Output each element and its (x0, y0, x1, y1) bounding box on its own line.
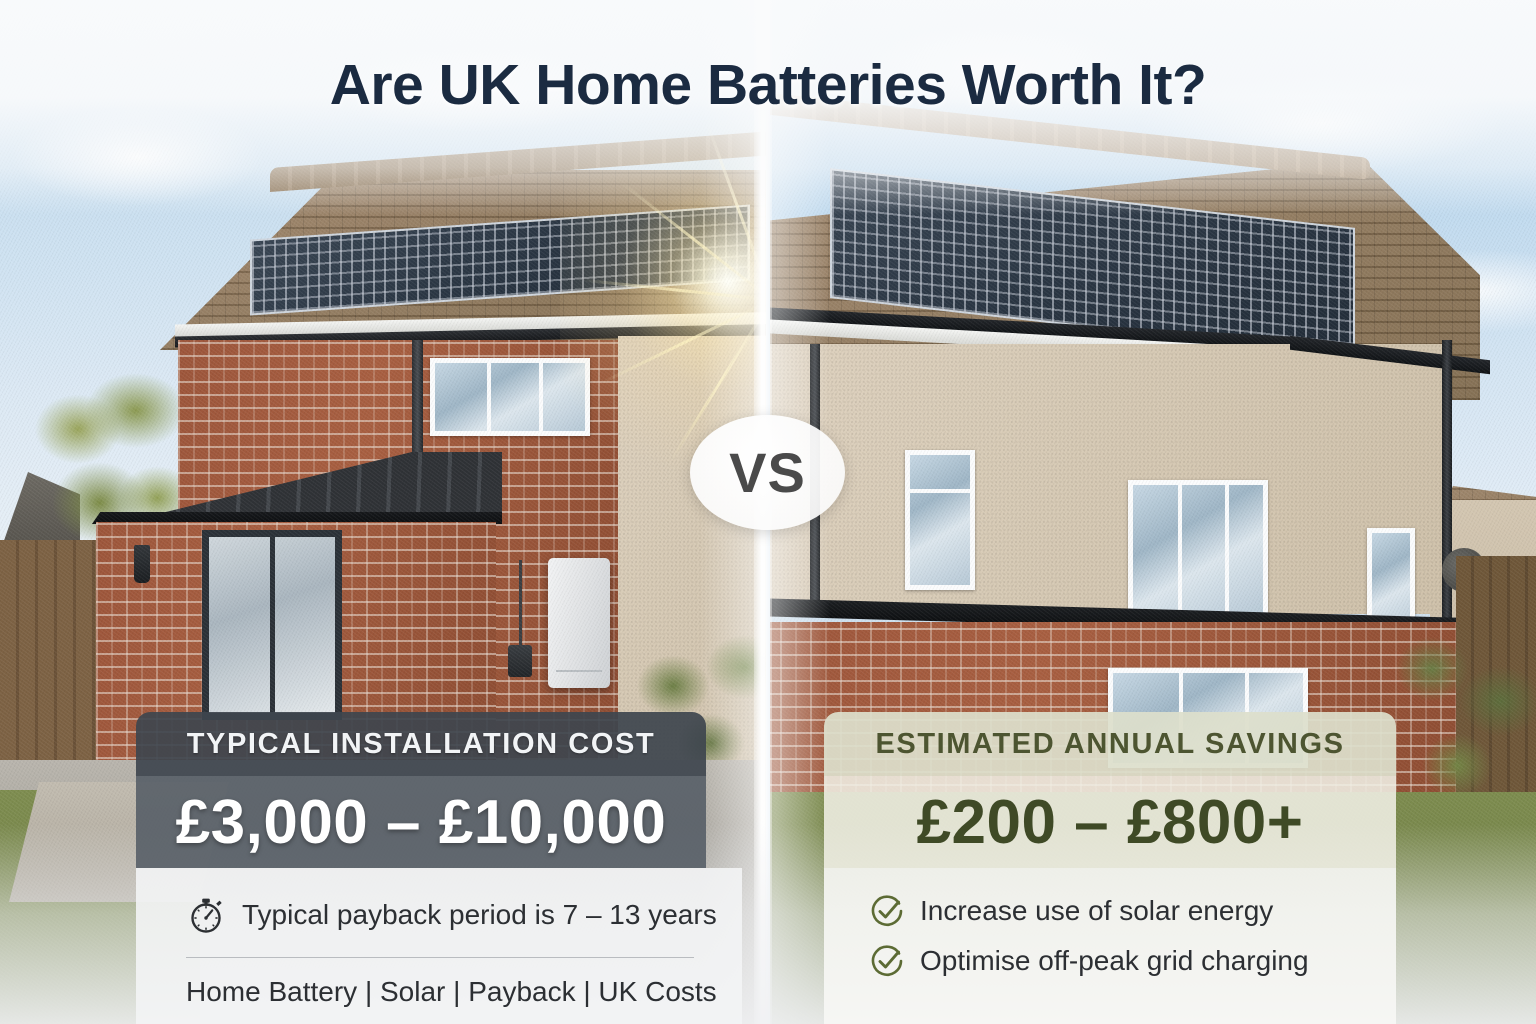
savings-card-value-band: £200 – £800+ (824, 776, 1396, 868)
upper-window-b-right (1128, 480, 1268, 620)
patio-doors-left (202, 530, 342, 720)
benefit-label-1: Increase use of solar energy (920, 895, 1273, 927)
savings-card-value: £200 – £800+ (917, 787, 1304, 858)
payback-note-row: Typical payback period is 7 – 13 years (188, 896, 717, 934)
benefit-row-1: Increase use of solar energy (870, 894, 1273, 928)
upper-window-a-right (905, 450, 975, 590)
savings-card-header: ESTIMATED ANNUAL SAVINGS (824, 712, 1396, 776)
savings-card-heading: ESTIMATED ANNUAL SAVINGS (875, 728, 1344, 761)
circle-check-icon (870, 894, 904, 928)
circle-check-icon (870, 944, 904, 978)
benefit-label-2: Optimise off-peak grid charging (920, 945, 1309, 977)
savings-card-body: Increase use of solar energy Optimise of… (824, 868, 1396, 1024)
infographic-stage: Are UK Home Batteries Worth It? VS TYPIC… (0, 0, 1536, 1024)
wall-lamp-left (134, 545, 150, 583)
cost-card-value: £3,000 – £10,000 (176, 787, 667, 858)
upper-window-left (430, 358, 590, 436)
cost-card: TYPICAL INSTALLATION COST £3,000 – £10,0… (136, 712, 742, 1024)
cost-card-value-band: £3,000 – £10,000 (136, 776, 706, 868)
home-battery-unit (548, 558, 610, 688)
cost-card-tags: Home Battery | Solar | Payback | UK Cost… (186, 976, 717, 1008)
inverter-box (508, 645, 532, 677)
vs-badge-label: VS (729, 440, 806, 505)
cost-card-heading: TYPICAL INSTALLATION COST (187, 728, 656, 761)
cost-card-body: Typical payback period is 7 – 13 years H… (136, 868, 742, 1024)
benefit-row-2: Optimise off-peak grid charging (870, 944, 1309, 978)
page-title: Are UK Home Batteries Worth It? (0, 52, 1536, 118)
stopwatch-icon (188, 896, 226, 934)
vs-badge: VS (690, 415, 845, 530)
cost-card-header: TYPICAL INSTALLATION COST (136, 712, 706, 776)
battery-cable (519, 560, 522, 648)
payback-note-label: Typical payback period is 7 – 13 years (242, 899, 717, 931)
cost-card-divider (186, 957, 694, 958)
render-wall-right (770, 344, 1450, 614)
savings-card: ESTIMATED ANNUAL SAVINGS £200 – £800+ In… (824, 712, 1396, 1024)
